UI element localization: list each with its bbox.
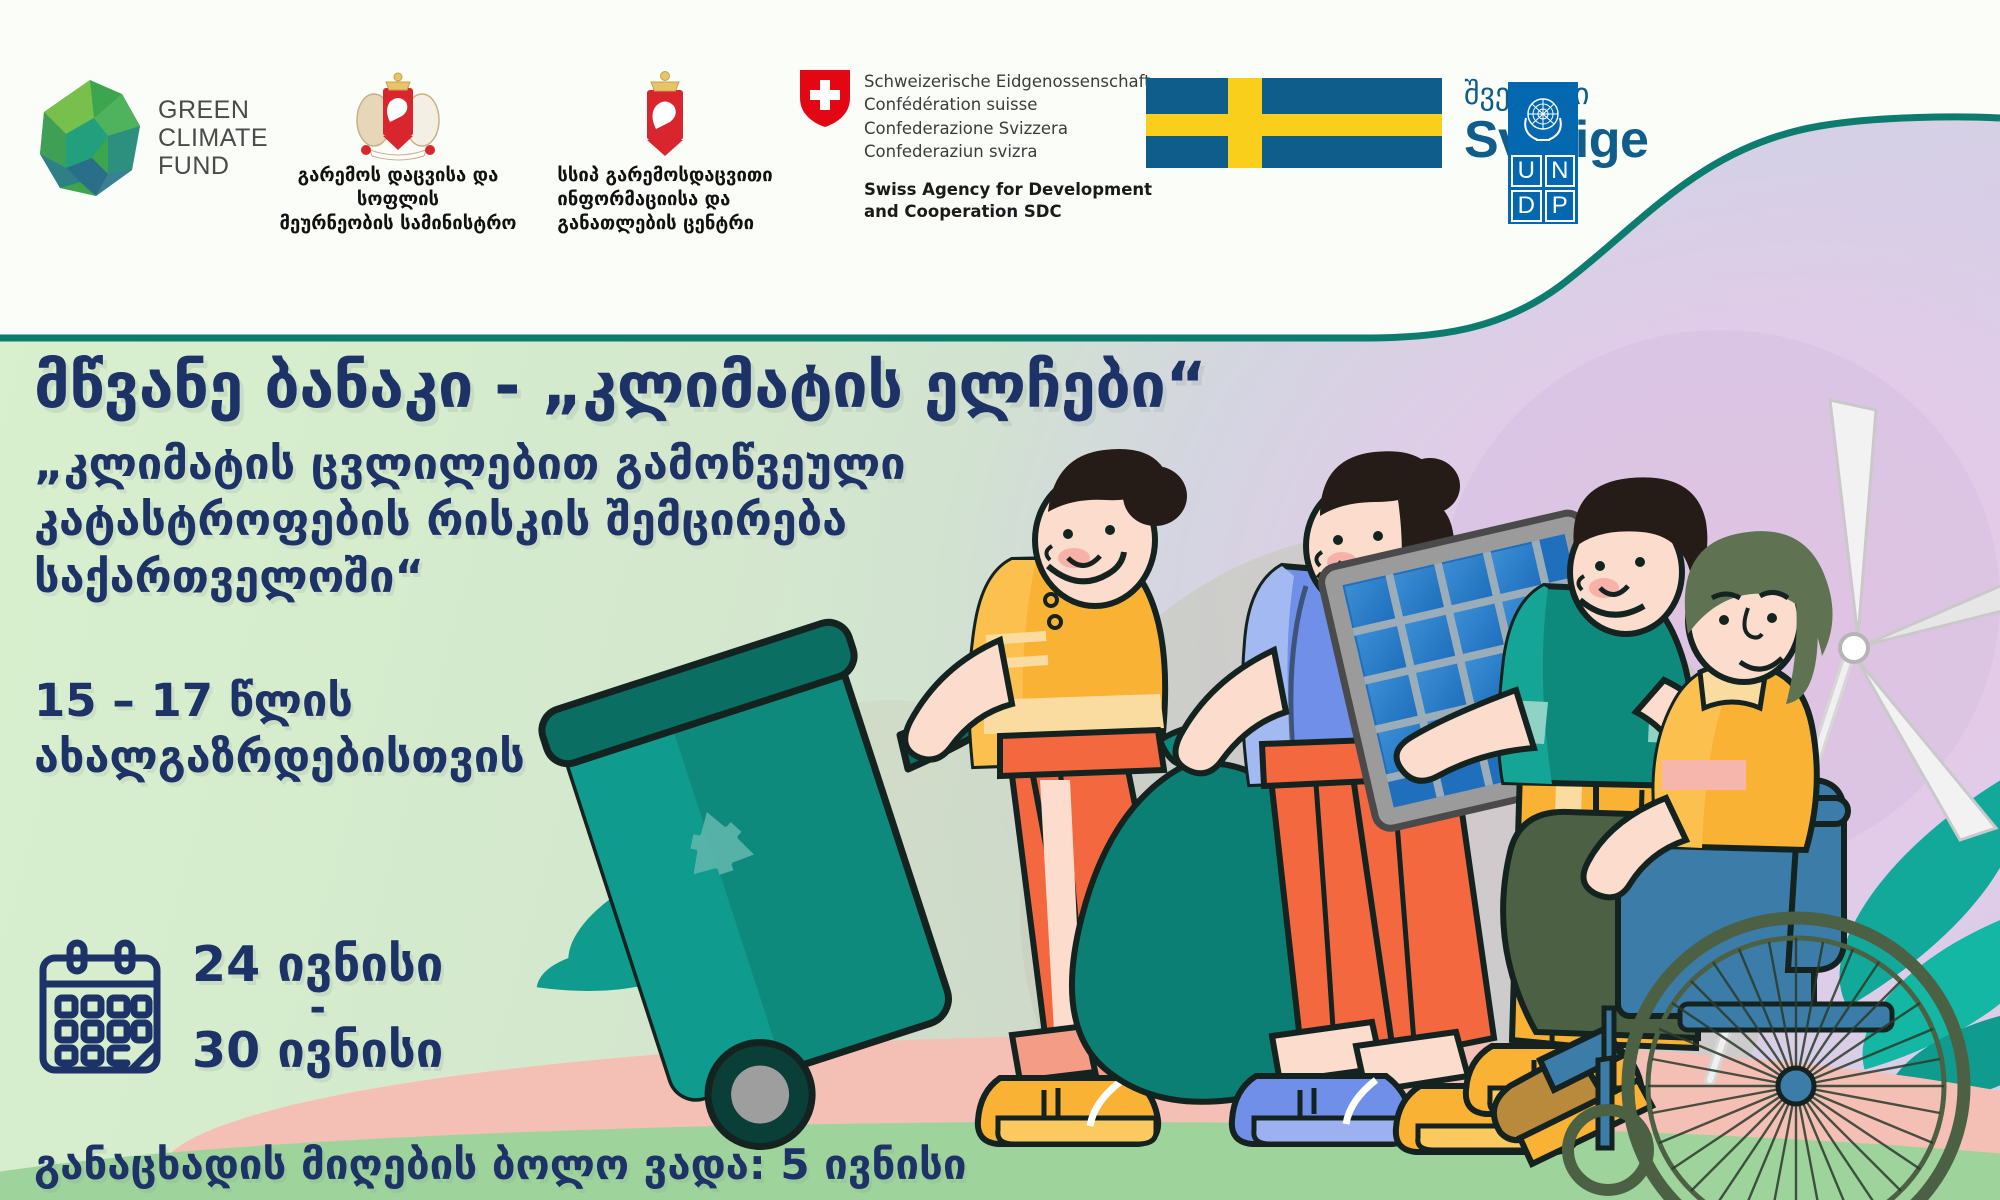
application-deadline: განაცხადის მიღების ბოლო ვადა: 5 ივნისი <box>34 1140 967 1189</box>
eiec-line-1: სსიპ გარემოსდაცვითი <box>557 164 772 188</box>
date-start: 24 ივნისი <box>192 939 443 991</box>
project-subtitle: „კლიმატის ცვლილებით გამოწვეული კატასტროფ… <box>34 436 1154 605</box>
undp-letter-d: D <box>1511 190 1542 222</box>
gcf-line-3: FUND <box>158 152 268 180</box>
gcf-polygon-globe-icon <box>36 78 144 198</box>
swiss-line-fr: Confédération suisse <box>864 93 1152 116</box>
undp-letters: U N D P <box>1508 152 1578 224</box>
calendar-icon <box>34 938 166 1078</box>
undp-letter-n: N <box>1545 155 1576 187</box>
logo-eiec: სსიპ გარემოსდაცვითი ინფორმაციისა და განა… <box>550 68 780 236</box>
subtitle-line-1: „კლიმატის ცვლილებით გამოწვეული <box>34 436 1154 492</box>
gcf-line-1: GREEN <box>158 96 268 124</box>
gcf-wordmark: GREEN CLIMATE FUND <box>158 96 268 180</box>
audience-line-1: 15 – 17 წლის <box>34 673 1154 729</box>
logo-swiss-sdc: Schweizerische Eidgenossenschaft Confédé… <box>800 70 1152 223</box>
undp-letter-u: U <box>1511 155 1542 187</box>
logo-undp: U N D P <box>1508 82 1578 224</box>
undp-box: U N D P <box>1508 82 1578 224</box>
eiec-caption: სსიპ გარემოსდაცვითი ინფორმაციისა და განა… <box>557 164 772 236</box>
georgia-coat-of-arms-icon <box>350 68 446 164</box>
main-copy: მწვანე ბანაკი - „კლიმატის ელჩები“ „კლიმა… <box>34 352 1154 785</box>
georgia-small-coat-of-arms-icon <box>635 68 695 164</box>
undp-letter-p: P <box>1545 190 1576 222</box>
eiec-line-2: ინფორმაციისა და <box>557 188 772 212</box>
logo-ministry-environment: გარემოს დაცვისა და სოფლის მეურნეობის სამ… <box>258 68 538 236</box>
subtitle-line-3: საქართველოში“ <box>34 549 1154 605</box>
un-emblem-icon <box>1508 82 1578 152</box>
eiec-line-3: განათლების ცენტრი <box>557 212 772 236</box>
logo-green-climate-fund: GREEN CLIMATE FUND <box>36 78 268 198</box>
sweden-flag-icon <box>1146 78 1442 168</box>
swiss-line-it: Confederazione Svizzera <box>864 117 1152 140</box>
swiss-shield-icon <box>800 70 850 127</box>
swiss-line-rm: Confederaziun svizra <box>864 140 1152 163</box>
audience-line-2: ახალგაზრდებისთვის <box>34 729 1154 785</box>
swiss-agency-line-2: and Cooperation SDC <box>864 201 1152 223</box>
partner-logos: GREEN CLIMATE FUND გარემოს დაცვის <box>0 0 2000 340</box>
poster-root: GREEN CLIMATE FUND გარემოს დაცვის <box>0 0 2000 1200</box>
gcf-line-2: CLIMATE <box>158 124 268 152</box>
page-title: მწვანე ბანაკი - „კლიმატის ელჩები“ <box>34 352 1154 420</box>
ministry-line-1: გარემოს დაცვისა და სოფლის <box>258 164 538 212</box>
swiss-names: Schweizerische Eidgenossenschaft Confédé… <box>864 70 1152 164</box>
swiss-agency-name: Swiss Agency for Development and Coopera… <box>864 179 1152 224</box>
date-separator: - <box>192 991 443 1025</box>
swiss-agency-line-1: Swiss Agency for Development <box>864 179 1152 201</box>
subtitle-line-2: კატასტროფების რისკის შემცირება <box>34 492 1154 548</box>
ministry-caption: გარემოს დაცვისა და სოფლის მეურნეობის სამ… <box>258 164 538 236</box>
audience-text: 15 – 17 წლის ახალგაზრდებისთვის <box>34 673 1154 786</box>
swiss-line-de: Schweizerische Eidgenossenschaft <box>864 70 1152 93</box>
camp-dates: 24 ივნისი - 30 ივნისი <box>192 939 443 1077</box>
ministry-line-2: მეურნეობის სამინისტრო <box>258 212 538 236</box>
date-block: 24 ივნისი - 30 ივნისი <box>34 938 443 1078</box>
date-end: 30 ივნისი <box>192 1025 443 1077</box>
